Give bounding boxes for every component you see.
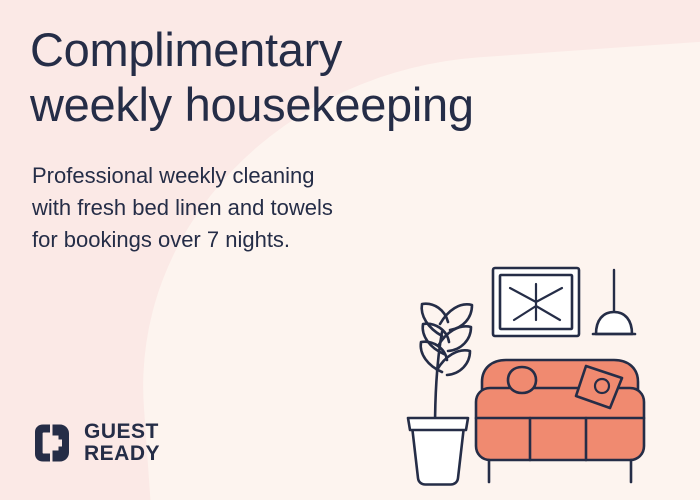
brand-logo-text: GUEST READY <box>84 421 160 464</box>
subheadline-line-2: with fresh bed linen and towels <box>32 192 462 224</box>
pendant-lamp-icon <box>593 270 635 334</box>
brand-logo-line-1: GUEST <box>84 421 160 442</box>
brand-logo: GUEST READY <box>33 421 160 464</box>
headline-line-2: weekly housekeeping <box>30 77 650 132</box>
headline-line-1: Complimentary <box>30 22 650 77</box>
living-room-illustration <box>390 250 690 500</box>
framed-artwork-icon <box>493 268 579 336</box>
potted-plant-icon <box>408 304 472 485</box>
sofa-icon <box>476 360 644 482</box>
promo-card: Complimentary weekly housekeeping Profes… <box>0 0 700 500</box>
subheadline-line-1: Professional weekly cleaning <box>32 160 462 192</box>
subheadline: Professional weekly cleaning with fresh … <box>32 160 462 256</box>
guestready-logo-mark-icon <box>33 423 73 463</box>
page-title: Complimentary weekly housekeeping <box>30 22 650 133</box>
brand-logo-line-2: READY <box>84 443 160 464</box>
